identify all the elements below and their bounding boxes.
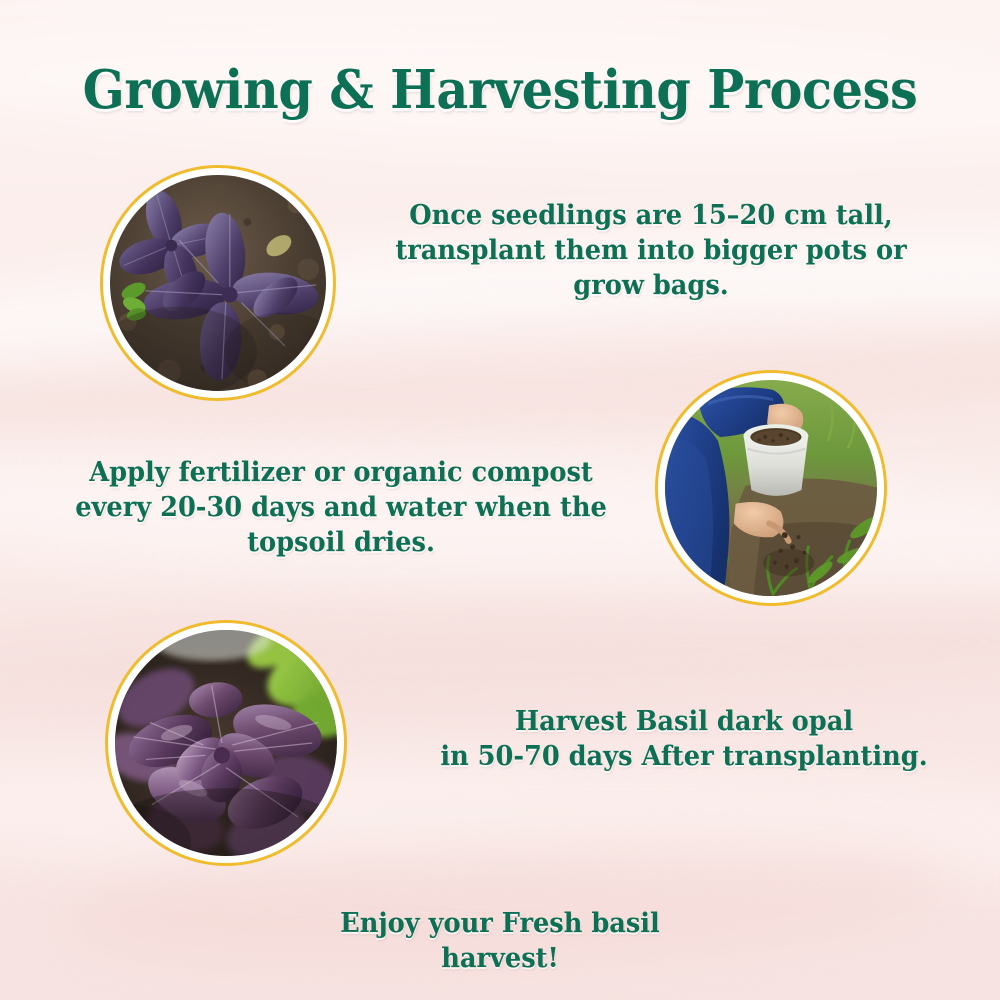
photo-seedlings-circle	[100, 165, 336, 401]
photo-seedlings-image	[110, 175, 326, 391]
photo-mature-basil-image	[115, 630, 337, 856]
photo-mature-basil-circle	[105, 620, 347, 866]
step-text-transplant: Once seedlings are 15–20 cm tall, transp…	[386, 198, 916, 303]
step-text-harvest: Harvest Basil dark opal in 50-70 days Af…	[419, 704, 949, 774]
closing-text: Enjoy your Fresh basil harvest!	[225, 906, 776, 976]
infographic-poster: Growing & Harvesting Process	[0, 0, 1000, 1000]
photo-fertilizing-circle	[655, 370, 887, 606]
step-text-fertilize: Apply fertilizer or organic compost ever…	[74, 455, 608, 560]
page-title: Growing & Harvesting Process	[35, 62, 965, 118]
photo-fertilizing-image	[665, 380, 877, 596]
